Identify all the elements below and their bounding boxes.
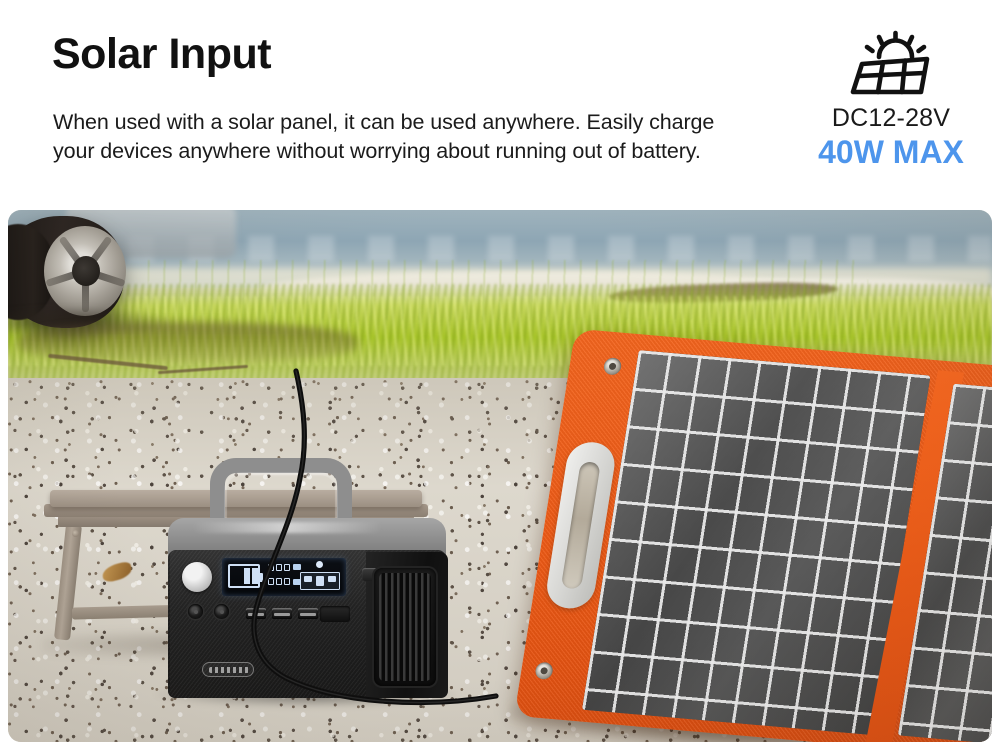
usb-a-port[interactable] bbox=[298, 608, 318, 619]
bench-leg bbox=[54, 523, 82, 640]
power-spec-label: 40W MAX bbox=[806, 134, 976, 171]
lcd-digit bbox=[284, 564, 290, 571]
lcd-square bbox=[304, 576, 312, 582]
product-photo bbox=[8, 210, 992, 742]
station-top-gloss bbox=[192, 522, 382, 533]
spec-badge: DC12-28V 40W MAX bbox=[806, 28, 976, 180]
grille-slats bbox=[379, 573, 431, 681]
power-station bbox=[148, 458, 466, 698]
brand-logo bbox=[202, 662, 254, 677]
lcd-unit bbox=[293, 564, 301, 570]
header-section: Solar Input When used with a solar panel… bbox=[0, 0, 1000, 210]
lcd-digit bbox=[268, 564, 274, 571]
solar-panel-sun-icon bbox=[806, 28, 976, 100]
usb-a-port[interactable] bbox=[246, 608, 266, 619]
voltage-spec-label: DC12-28V bbox=[806, 104, 976, 133]
dc-output-port[interactable] bbox=[188, 604, 203, 619]
dc-output-port[interactable] bbox=[214, 604, 229, 619]
lcd-digit bbox=[276, 578, 282, 585]
page-title: Solar Input bbox=[52, 32, 271, 77]
bench-screw bbox=[72, 530, 79, 537]
wheel-hub bbox=[72, 256, 100, 286]
lcd-square bbox=[328, 576, 336, 582]
lcd-digit bbox=[268, 578, 274, 585]
dc-input-port[interactable] bbox=[320, 606, 350, 622]
fallen-leaf bbox=[101, 561, 134, 584]
description-text: When used with a solar panel, it can be … bbox=[53, 108, 753, 166]
lcd-battery-bar bbox=[244, 568, 250, 584]
lcd-battery-bar bbox=[252, 568, 258, 584]
lcd-indicator-dot bbox=[316, 561, 323, 568]
grass-blades bbox=[148, 260, 868, 320]
lcd-square bbox=[316, 576, 324, 586]
solar-panel bbox=[516, 328, 992, 742]
usb-a-port[interactable] bbox=[272, 608, 292, 619]
lcd-digit bbox=[284, 578, 290, 585]
lcd-digit bbox=[276, 564, 282, 571]
power-button[interactable] bbox=[182, 562, 212, 592]
solar-panel-wrap bbox=[513, 329, 992, 742]
